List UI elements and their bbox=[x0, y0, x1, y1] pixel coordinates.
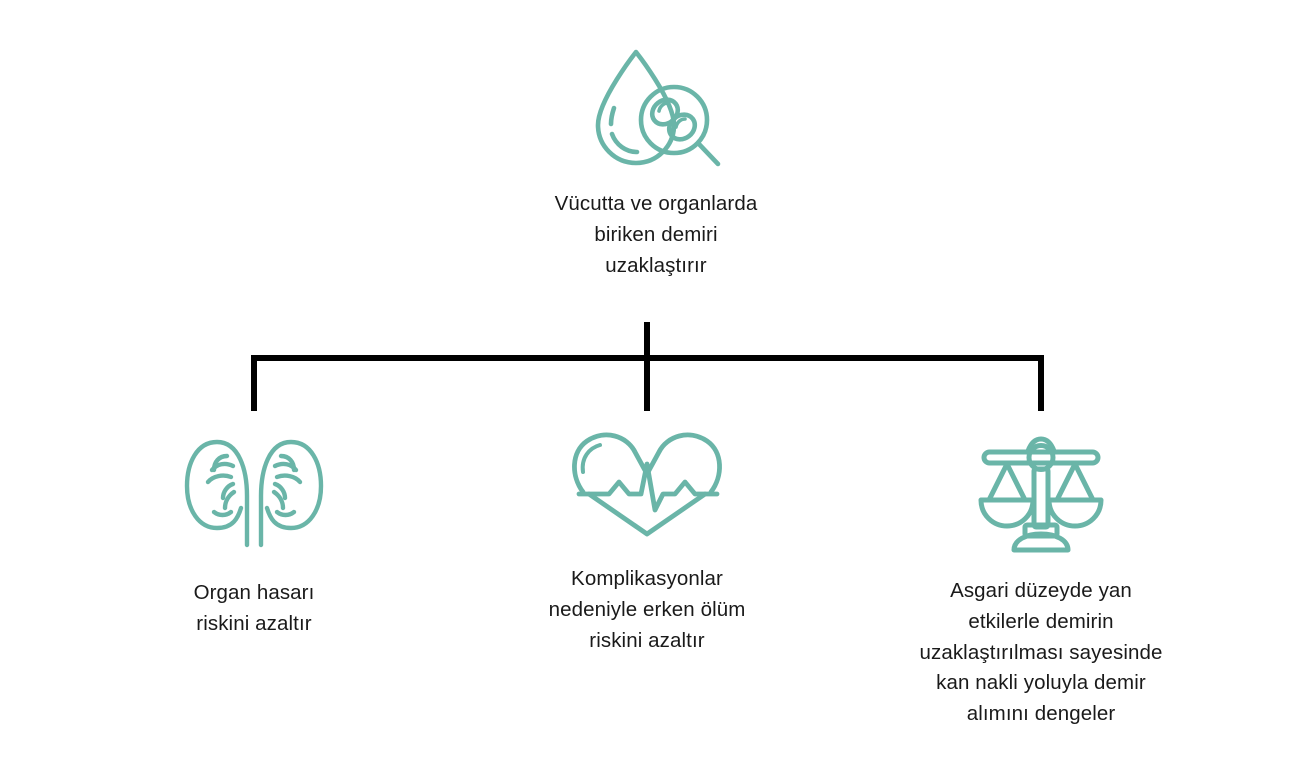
heart-ecg-icon bbox=[567, 430, 727, 540]
node-kidneys: Organ hasarı riskini azaltır bbox=[84, 430, 424, 640]
node-kidneys-label: Organ hasarı riskini azaltır bbox=[194, 578, 315, 640]
node-heart-label: Komplikasyonlar nedeniyle erken ölüm ris… bbox=[549, 564, 746, 656]
balance-scales-icon bbox=[974, 430, 1108, 554]
kidneys-icon bbox=[181, 430, 327, 550]
blood-drop-magnifier-icon bbox=[588, 48, 724, 176]
diagram-canvas: Vücutta ve organlarda biriken demiri uza… bbox=[0, 0, 1300, 782]
node-root: Vücutta ve organlarda biriken demiri uza… bbox=[466, 48, 846, 281]
node-root-label: Vücutta ve organlarda biriken demiri uza… bbox=[555, 189, 758, 281]
node-scales-label: Asgari düzeyde yan etkilerle demirin uza… bbox=[919, 576, 1162, 730]
node-scales: Asgari düzeyde yan etkilerle demirin uza… bbox=[871, 430, 1211, 730]
node-heart: Komplikasyonlar nedeniyle erken ölüm ris… bbox=[477, 430, 817, 656]
